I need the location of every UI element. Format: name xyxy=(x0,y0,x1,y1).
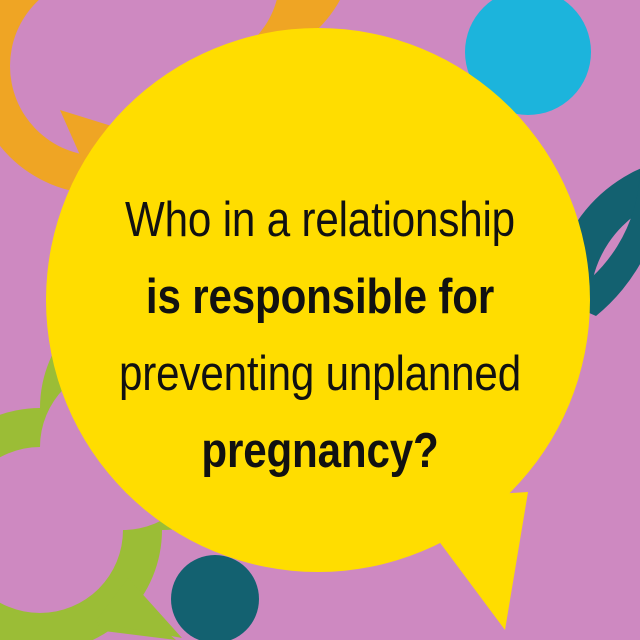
poster-artwork xyxy=(0,0,640,640)
teal-circle xyxy=(171,555,259,640)
poster-canvas: Who in a relationship is responsible for… xyxy=(0,0,640,640)
